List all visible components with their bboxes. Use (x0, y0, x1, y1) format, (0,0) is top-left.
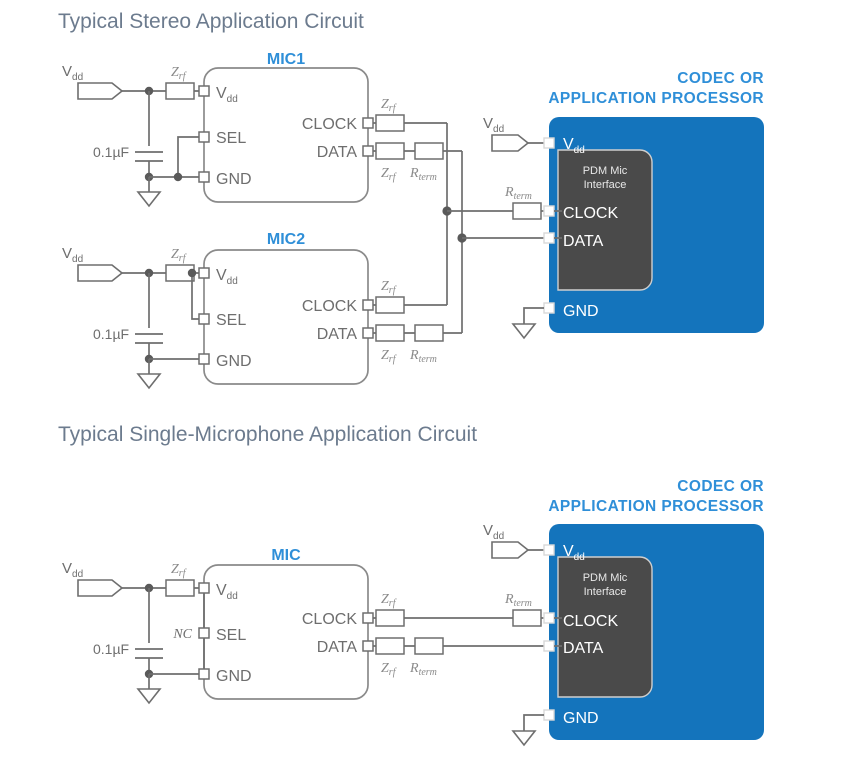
mic-pin-clock-pad (363, 613, 373, 623)
codec-pin-gnd-label: GND (563, 303, 599, 320)
mic1-zrf-label: Zrf (171, 65, 187, 82)
pdm2-label-line1: PDM Mic (583, 572, 628, 584)
mic2-name: MIC2 (267, 231, 305, 248)
mic-pin-vdd-label: Vdd (216, 582, 238, 602)
mic-zrf-label: Zrf (171, 562, 187, 579)
codec-testpoint-icon (492, 135, 528, 151)
mic1-clock-zrf-label: Zrf (381, 97, 397, 114)
codec-pin-clock-label: CLOCK (563, 205, 618, 222)
codec2-pin-gnd-label: GND (563, 710, 599, 727)
mic2-pin-vdd-label: Vdd (216, 267, 238, 287)
ground-icon (138, 192, 160, 206)
mic-data-zrf-label: Zrf (381, 661, 397, 678)
mic1-data-rterm-label: Rterm (409, 166, 437, 183)
codec-heading-line1: CODEC OR (677, 70, 764, 87)
mic2-testpoint-icon (78, 265, 122, 281)
mic-pin-sel-label: SEL (216, 627, 246, 644)
mic-data-zrf-resistor (376, 638, 404, 654)
mic1-pin-gnd-pad (199, 172, 209, 182)
codec-pin-data-label: DATA (563, 233, 604, 250)
mic1-supply-label: Vdd (62, 63, 83, 83)
mic-clock-zrf-label: Zrf (381, 592, 397, 609)
codec-heading-line2: APPLICATION PROCESSOR (548, 90, 764, 107)
ground-icon (138, 374, 160, 388)
mic2-data-zrf-label: Zrf (381, 348, 397, 365)
codec2-pin-clock-label: CLOCK (563, 613, 618, 630)
pdm2-label-line2: Interface (584, 586, 627, 598)
mic2-pin-data-label: DATA (317, 326, 358, 343)
mic1-pin-vdd-label: Vdd (216, 85, 238, 105)
section-title-stereo: Typical Stereo Application Circuit (58, 10, 364, 33)
stereo-clock-rterm-resistor (513, 203, 541, 219)
codec-gnd-wire (524, 308, 544, 324)
mic2-data-zrf-resistor (376, 325, 404, 341)
section-title-single: Typical Single-Microphone Application Ci… (58, 423, 477, 446)
mic-clock-rterm-label: Rterm (504, 592, 532, 609)
mic2-pin-clock-label: CLOCK (302, 298, 357, 315)
mic1-clock-zrf-resistor (376, 115, 404, 131)
mic-pin-vdd-pad (199, 583, 209, 593)
mic1-data-zrf-label: Zrf (381, 166, 397, 183)
codec-supply-label: Vdd (483, 115, 504, 135)
mic2-pin-sel-pad (199, 314, 209, 324)
codec2-heading-line1: CODEC OR (677, 478, 764, 495)
mic2-pin-clock-pad (363, 300, 373, 310)
mic1-sel-to-gnd-wire (178, 137, 204, 177)
codec2-pin-data-pad (544, 641, 554, 651)
mic2-zrf-label: Zrf (171, 247, 187, 264)
mic-pin-gnd-pad (199, 669, 209, 679)
codec2-pin-clock-pad (544, 613, 554, 623)
ground-icon (138, 689, 160, 703)
mic1-data-rterm-resistor (415, 143, 443, 159)
codec-pin-data-pad (544, 233, 554, 243)
mic2-data-rterm-resistor (415, 325, 443, 341)
mic-clock-zrf-resistor (376, 610, 404, 626)
mic2-clock-zrf-label: Zrf (381, 279, 397, 296)
mic2-data-rterm-label: Rterm (409, 348, 437, 365)
mic-pin-data-label: DATA (317, 639, 358, 656)
mic1-cap-label: 0.1µF (93, 144, 129, 160)
mic1-pin-sel-pad (199, 132, 209, 142)
mic1-pin-data-label: DATA (317, 144, 358, 161)
junction-dot (188, 269, 196, 277)
mic1-pin-clock-label: CLOCK (302, 116, 357, 133)
diagram-canvas: Typical Stereo Application Circuit CODEC… (0, 0, 860, 764)
mic-data-rterm-resistor (415, 638, 443, 654)
codec-pin-vdd-pad (544, 138, 554, 148)
junction-dot (174, 173, 182, 181)
ground-icon (513, 731, 535, 745)
codec2-pin-vdd-pad (544, 545, 554, 555)
mic1-pin-sel-label: SEL (216, 130, 246, 147)
mic-supply-label: Vdd (62, 560, 83, 580)
mic-sel-nc-label: NC (172, 627, 192, 642)
mic2-clock-zrf-resistor (376, 297, 404, 313)
ground-icon (513, 324, 535, 338)
mic1-pin-vdd-pad (199, 86, 209, 96)
codec2-testpoint-icon (492, 542, 528, 558)
mic2-pin-vdd-pad (199, 268, 209, 278)
mic2-supply-label: Vdd (62, 245, 83, 265)
mic-pin-data-pad (363, 641, 373, 651)
mic1-zrf-resistor (166, 83, 194, 99)
codec2-heading-line2: APPLICATION PROCESSOR (548, 498, 764, 515)
mic1-pin-data-pad (363, 146, 373, 156)
mic-data-rterm-label: Rterm (409, 661, 437, 678)
codec2-pin-data-label: DATA (563, 640, 604, 657)
mic2-pin-gnd-pad (199, 354, 209, 364)
pdm-label-line2: Interface (584, 179, 627, 191)
application-circuit-diagram: Typical Stereo Application Circuit CODEC… (0, 0, 860, 764)
codec2-gnd-wire (524, 715, 544, 731)
stereo-clock-rterm-label: Rterm (504, 185, 532, 202)
mic2-cap-label: 0.1µF (93, 326, 129, 342)
mic2-pin-gnd-label: GND (216, 353, 252, 370)
pdm-label-line1: PDM Mic (583, 165, 628, 177)
codec-pin-gnd-pad (544, 303, 554, 313)
mic-testpoint-icon (78, 580, 122, 596)
codec2-supply-label: Vdd (483, 522, 504, 542)
mic1-testpoint-icon (78, 83, 122, 99)
mic1-name: MIC1 (267, 51, 305, 68)
mic-name: MIC (271, 547, 301, 564)
mic-pin-clock-label: CLOCK (302, 611, 357, 628)
mic-pin-gnd-label: GND (216, 668, 252, 685)
mic-cap-label: 0.1µF (93, 641, 129, 657)
mic2-pin-sel-label: SEL (216, 312, 246, 329)
mic-pin-sel-pad (199, 628, 209, 638)
mic2-pin-data-pad (363, 328, 373, 338)
mic1-data-zrf-resistor (376, 143, 404, 159)
codec2-pin-gnd-pad (544, 710, 554, 720)
mic1-pin-gnd-label: GND (216, 171, 252, 188)
mic-zrf-resistor (166, 580, 194, 596)
codec-pin-clock-pad (544, 206, 554, 216)
mic1-pin-clock-pad (363, 118, 373, 128)
mic-clock-rterm-resistor (513, 610, 541, 626)
